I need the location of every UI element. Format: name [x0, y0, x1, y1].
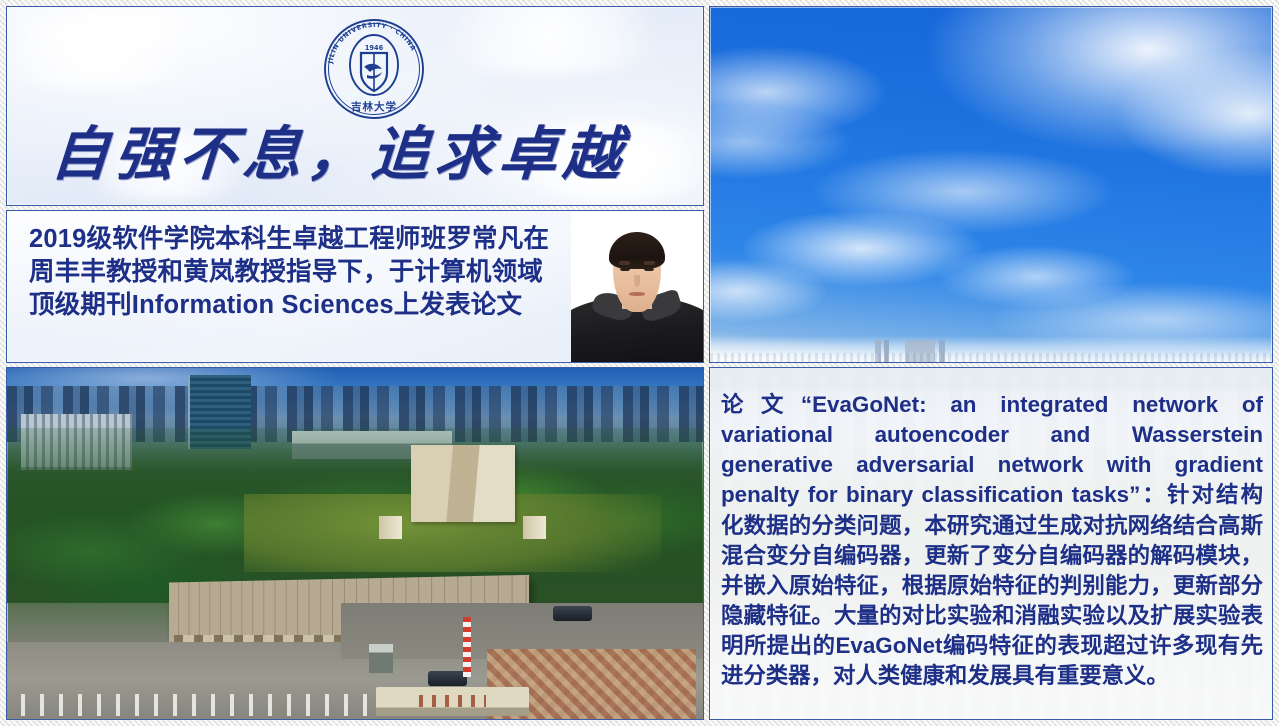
campus-entrance-sign — [376, 687, 529, 715]
campus-bollard-row — [21, 694, 397, 715]
portrait-eyebrow-left — [619, 261, 631, 264]
svg-text:吉林大学: 吉林大学 — [351, 100, 397, 113]
poster-root: 1946 JILIN UNIVERSITY · CHINA 吉林大学 自强不息，… — [6, 6, 1273, 720]
campus-photo — [6, 367, 704, 720]
portrait-eye-left — [620, 268, 630, 272]
distant-skyline — [710, 336, 1272, 362]
svg-text:JILIN UNIVERSITY · CHINA: JILIN UNIVERSITY · CHINA — [326, 21, 417, 65]
portrait-eyebrow-right — [644, 261, 656, 264]
campus-sign-characters — [419, 695, 486, 707]
university-motto: 自强不息，追求卓越 — [49, 125, 693, 183]
motto-panel: 1946 JILIN UNIVERSITY · CHINA 吉林大学 自强不息，… — [6, 6, 704, 206]
student-portrait-photo — [571, 211, 703, 363]
paper-abstract-panel: 论文“EvaGoNet: an integrated network of va… — [709, 367, 1273, 720]
news-headline-panel: 2019级软件学院本科生卓越工程师班罗常凡在周丰丰教授和黄岚教授指导下，于计算机… — [6, 210, 704, 363]
campus-car — [428, 671, 467, 686]
jilin-university-seal-icon: 1946 JILIN UNIVERSITY · CHINA 吉林大学 — [320, 15, 428, 123]
cloud-shape — [6, 15, 216, 90]
cloud-shape — [411, 6, 689, 74]
campus-guard-booth — [369, 644, 393, 674]
campus-car — [553, 606, 592, 621]
svg-text:1946: 1946 — [365, 44, 384, 52]
campus-gate-monument — [411, 445, 515, 522]
portrait-hair — [609, 232, 666, 269]
portrait-mouth — [629, 292, 645, 296]
campus-traffic-barrier — [463, 617, 471, 677]
sky-photo — [709, 6, 1273, 363]
news-headline-text: 2019级软件学院本科生卓越工程师班罗常凡在周丰丰教授和黄岚教授指导下，于计算机… — [29, 223, 559, 322]
paper-abstract-text: 论文“EvaGoNet: an integrated network of va… — [721, 390, 1263, 691]
